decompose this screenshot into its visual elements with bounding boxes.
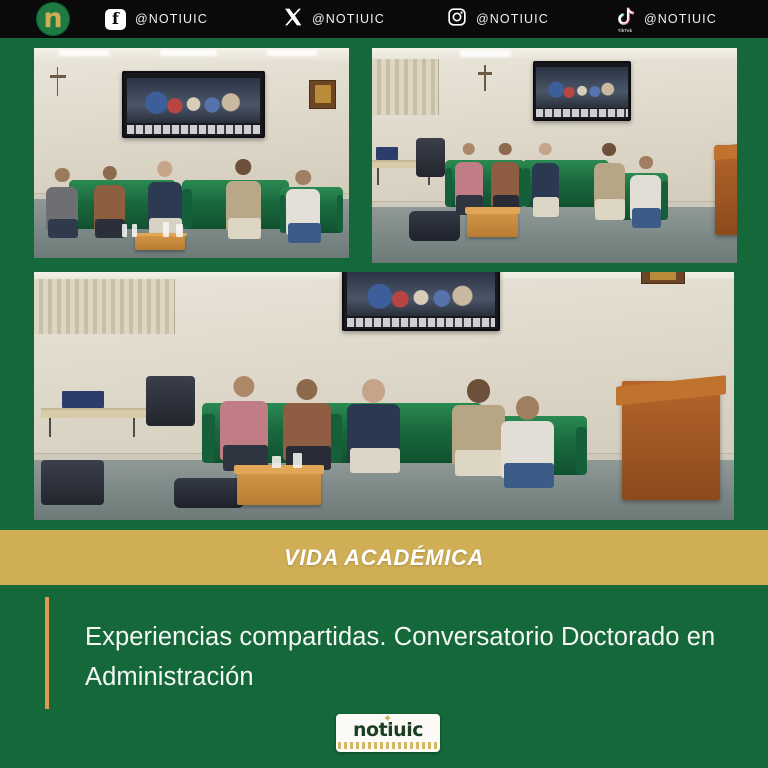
notiuic-logo-icon: n xyxy=(36,2,70,36)
wall-plaque xyxy=(641,272,685,284)
photo-3 xyxy=(34,272,734,520)
tiktok-caption: TikTok xyxy=(612,28,638,33)
notiuic-wordmark-icon: notiuic ✦ xyxy=(336,714,440,752)
photo-2 xyxy=(372,48,737,263)
facebook-handle: @NOTIUIC xyxy=(135,12,208,26)
social-link-x[interactable]: @NOTIUIC xyxy=(283,0,385,38)
category-band: VIDA ACADÉMICA xyxy=(0,530,768,585)
photo-1-scene xyxy=(34,48,349,258)
photo-3-scene xyxy=(34,272,734,520)
logo-teeth-decoration xyxy=(338,742,438,749)
social-media-poster: n f @NOTIUIC @NOTIUIC xyxy=(0,0,768,768)
category-label: VIDA ACADÉMICA xyxy=(284,545,484,571)
wall-television xyxy=(342,272,500,331)
logo-spark-icon: ✦ xyxy=(383,715,392,724)
tiktok-handle: @NOTIUIC xyxy=(644,12,717,26)
facebook-icon[interactable]: f xyxy=(105,9,126,30)
social-link-instagram[interactable]: @NOTIUIC xyxy=(447,0,549,38)
page-title: Experiencias compartidas. Conversatorio … xyxy=(85,618,735,697)
photo-1 xyxy=(34,48,349,258)
tiktok-icon[interactable]: TikTok xyxy=(613,6,635,32)
social-link-facebook[interactable]: f @NOTIUIC xyxy=(105,0,208,38)
title-accent-bar xyxy=(45,597,49,709)
photo-2-scene xyxy=(372,48,737,263)
x-twitter-icon[interactable] xyxy=(283,7,303,32)
social-link-tiktok[interactable]: TikTok @NOTIUIC xyxy=(613,0,717,38)
wall-television xyxy=(122,71,265,138)
wooden-podium xyxy=(622,381,720,500)
wall-plaque xyxy=(309,80,336,109)
brand-letter: n xyxy=(43,5,62,32)
x-handle: @NOTIUIC xyxy=(312,12,385,26)
social-header-bar: n f @NOTIUIC @NOTIUIC xyxy=(0,0,768,38)
instagram-icon[interactable] xyxy=(447,7,467,32)
wall-television xyxy=(533,61,632,121)
instagram-handle: @NOTIUIC xyxy=(476,12,549,26)
